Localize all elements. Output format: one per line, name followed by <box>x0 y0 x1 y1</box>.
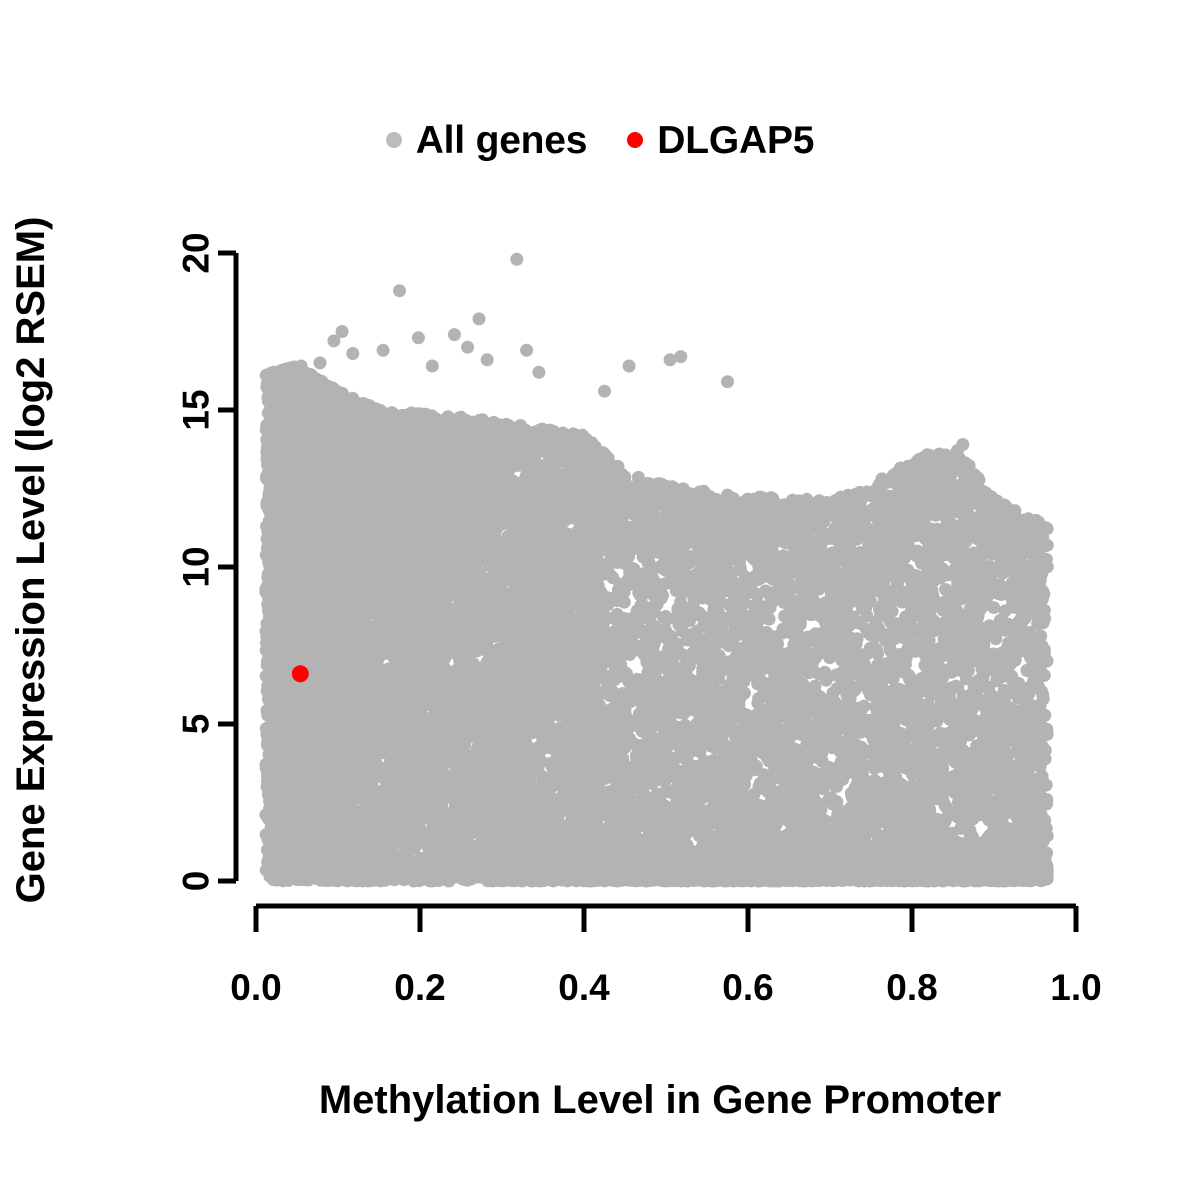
x-tick-label: 0.8 <box>886 967 937 1008</box>
x-axis-ticks: 0.00.20.40.60.81.0 <box>230 906 1101 1008</box>
y-axis-ticks: 05101520 <box>176 232 237 891</box>
y-axis-title: Gene Expression Level (log2 RSEM) <box>9 217 53 904</box>
x-tick-label: 0.6 <box>722 967 773 1008</box>
x-tick-label: 0.4 <box>558 967 610 1008</box>
plot-canvas: 05101520 0.00.20.40.60.81.0 Methylation … <box>0 0 1200 1200</box>
y-tick-label: 20 <box>176 232 217 273</box>
y-axis: 05101520 <box>176 232 237 891</box>
y-tick-label: 15 <box>176 389 217 430</box>
data-points-layer <box>259 253 1053 888</box>
x-tick-label: 0.0 <box>230 967 281 1008</box>
y-tick-label: 5 <box>176 714 217 735</box>
scatter-plot-figure: All genes DLGAP5 05101520 0.00.20.40.60.… <box>0 0 1200 1200</box>
x-axis: 0.00.20.40.60.81.0 <box>230 906 1101 1008</box>
x-axis-title: Methylation Level in Gene Promoter <box>319 1078 1001 1122</box>
y-tick-label: 0 <box>176 871 217 892</box>
x-tick-label: 1.0 <box>1050 967 1101 1008</box>
x-tick-label: 0.2 <box>394 967 445 1008</box>
y-tick-label: 10 <box>176 546 217 587</box>
